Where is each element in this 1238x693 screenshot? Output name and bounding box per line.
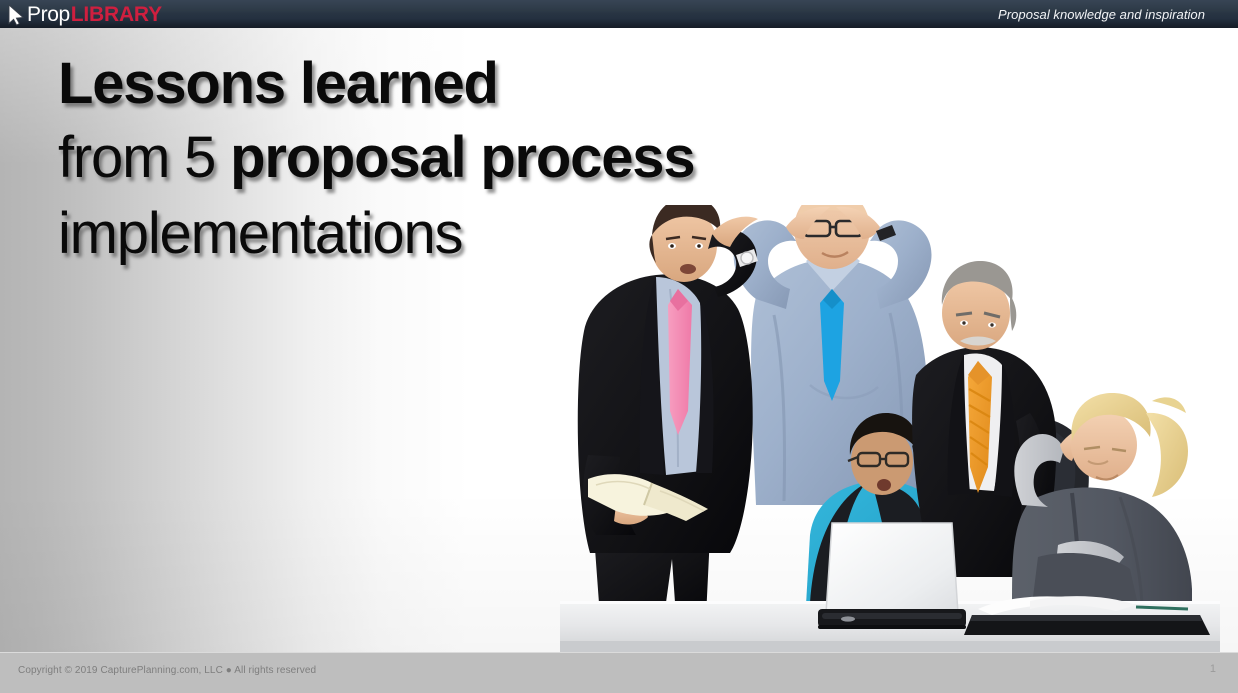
title-line-2: from 5 proposal process bbox=[58, 120, 918, 196]
title-line-2-prefix: from 5 bbox=[58, 125, 230, 190]
header-bar: Prop LIBRARY Proposal knowledge and insp… bbox=[0, 0, 1238, 28]
slide-canvas: Prop LIBRARY Proposal knowledge and insp… bbox=[0, 0, 1238, 693]
footer-bar: Copyright © 2019 CapturePlanning.com, LL… bbox=[0, 652, 1238, 693]
man-with-book bbox=[578, 205, 758, 617]
laptop bbox=[818, 523, 966, 629]
brand-logo[interactable]: Prop LIBRARY bbox=[8, 0, 162, 28]
logo-library-text: LIBRARY bbox=[71, 4, 162, 25]
cursor-arrow-icon bbox=[8, 4, 25, 26]
header-tagline: Proposal knowledge and inspiration bbox=[998, 0, 1205, 28]
hero-photo bbox=[560, 205, 1220, 652]
title-line-2-strong: proposal process bbox=[230, 125, 694, 190]
title-line-1: Lessons learned bbox=[58, 48, 918, 120]
page-number: 1 bbox=[1210, 663, 1216, 675]
logo-prop-text: Prop bbox=[27, 4, 70, 25]
footer-divider bbox=[0, 652, 1238, 653]
copyright-text: Copyright © 2019 CapturePlanning.com, LL… bbox=[18, 665, 316, 676]
